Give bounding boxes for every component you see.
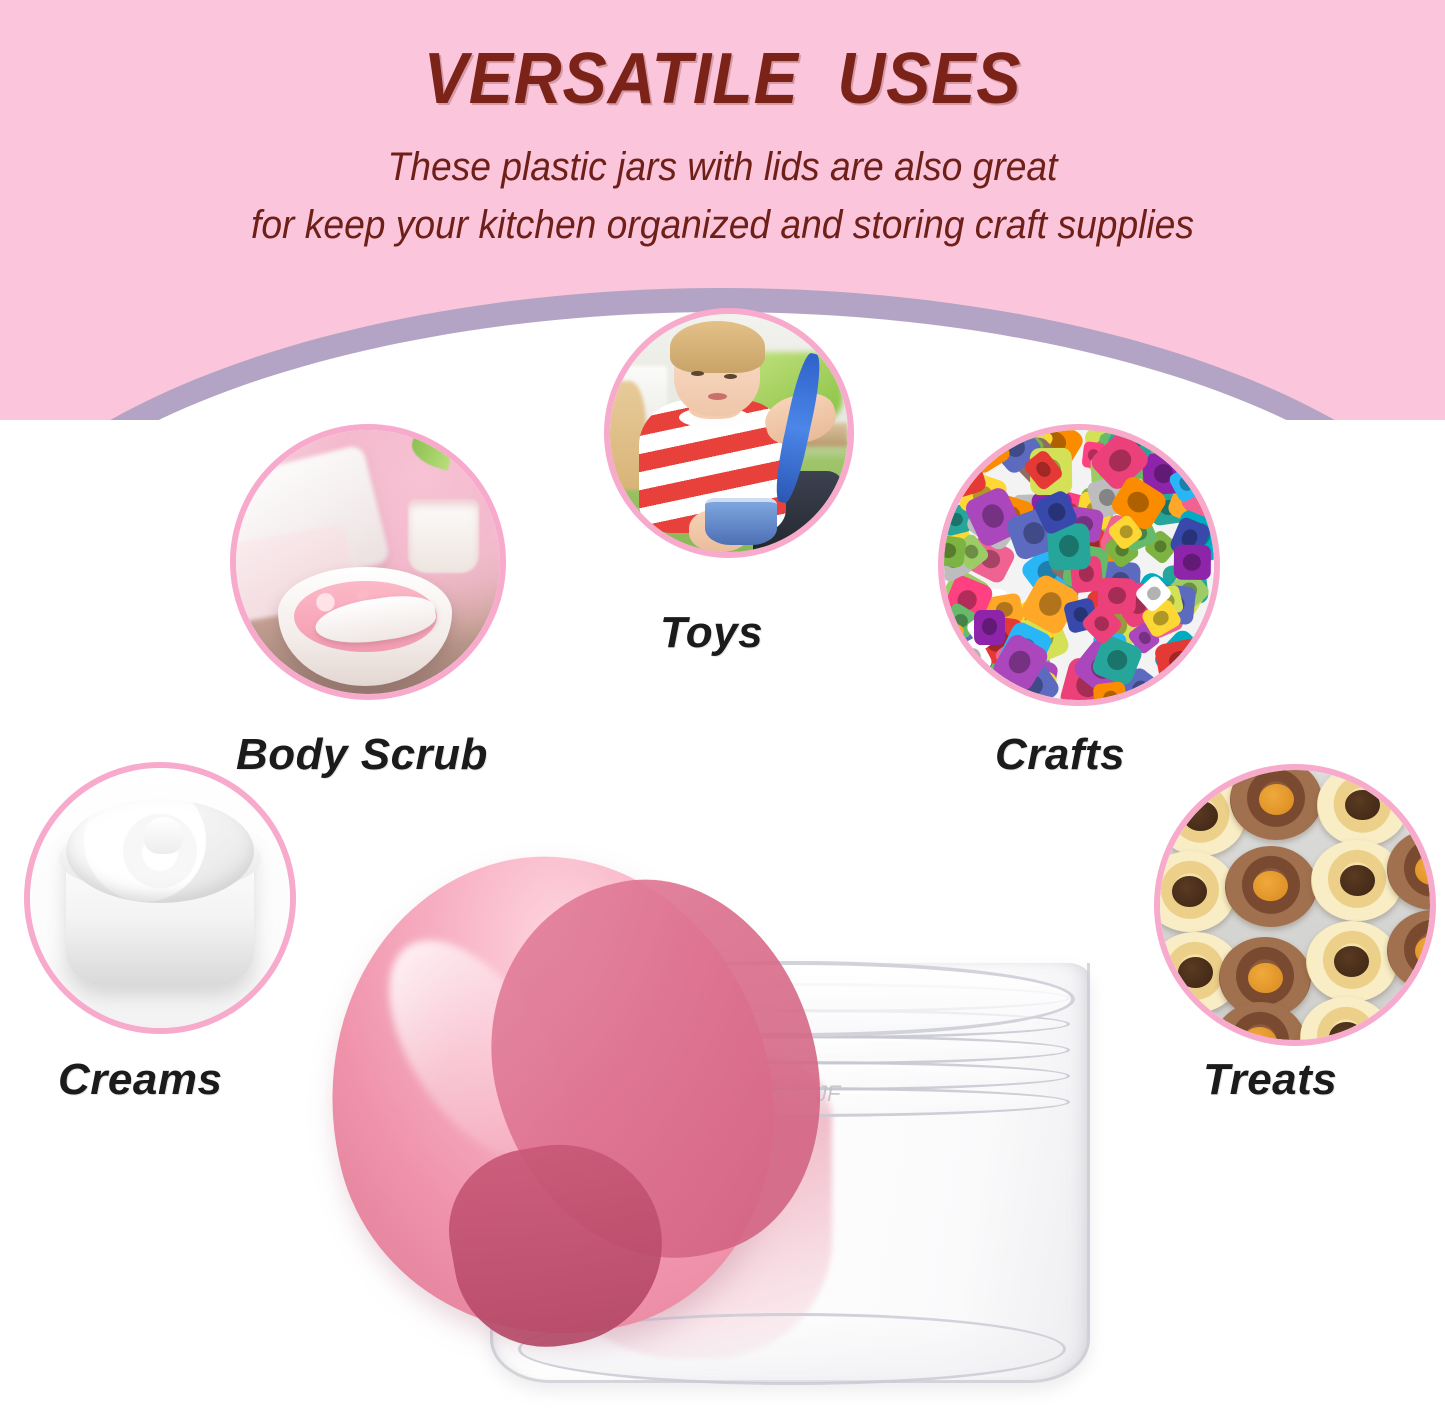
- cookie-center: [1178, 957, 1213, 988]
- chocolate-cookie: [1230, 770, 1322, 840]
- caption-crafts: Crafts: [995, 730, 1125, 780]
- crafts-photo: [944, 430, 1214, 700]
- cookie-center: [1415, 936, 1430, 967]
- cream-peak: [144, 817, 183, 853]
- caption-creams: Creams: [58, 1055, 222, 1105]
- cookie-center: [1248, 963, 1283, 994]
- treats-photo: [1160, 770, 1430, 1040]
- use-case-thumb-creams: [24, 762, 296, 1034]
- product-feature-image: VERSATILE USES These plastic jars with l…: [0, 0, 1445, 1409]
- perler-bead-pile: [944, 430, 1214, 700]
- vanilla-cookie: [1306, 921, 1398, 1002]
- craft-bead: [1195, 658, 1214, 700]
- cookie-center: [1345, 790, 1380, 821]
- caption-toys: Toys: [660, 608, 763, 658]
- cookie-center: [1172, 876, 1207, 907]
- page-subtitle: These plastic jars with lids are also gr…: [51, 138, 1395, 254]
- chocolate-cookie: [1225, 846, 1317, 927]
- page-title: VERSATILE USES: [58, 42, 1387, 118]
- caption-treats: Treats: [1203, 1055, 1337, 1105]
- scrub-cup: [408, 499, 479, 573]
- vanilla-cookie: [1317, 770, 1409, 846]
- body-scrub-photo: [236, 430, 500, 694]
- butter-cookies: [1160, 770, 1430, 1040]
- cookie-center: [1259, 784, 1294, 815]
- use-case-thumb-body-scrub: [230, 424, 506, 700]
- toys-child-hair: [670, 321, 765, 373]
- toys-child-mouth: [708, 393, 727, 400]
- craft-bead: [1173, 545, 1210, 580]
- cookie-center: [1334, 946, 1369, 977]
- use-case-thumb-crafts: [938, 424, 1220, 706]
- craft-bead: [974, 610, 1005, 645]
- cookie-center: [1253, 871, 1288, 902]
- craft-bead: [1092, 681, 1128, 700]
- use-case-thumb-treats: [1154, 764, 1436, 1046]
- creams-photo: [30, 768, 290, 1028]
- toys-slime-container: [705, 498, 776, 545]
- cookie-center: [1415, 855, 1430, 886]
- cookie-center: [1340, 865, 1375, 896]
- cookie-center: [1329, 1022, 1364, 1040]
- cookie-center: [1183, 801, 1218, 832]
- toys-child-eye-right: [724, 374, 737, 379]
- cookie-center: [1242, 1027, 1277, 1040]
- use-case-thumb-toys: [604, 308, 854, 558]
- vanilla-cookie: [1160, 851, 1236, 932]
- product-photo: JF: [300, 845, 1120, 1409]
- subtitle-line-1: These plastic jars with lids are also gr…: [51, 138, 1395, 196]
- subtitle-line-2: for keep your kitchen organized and stor…: [51, 196, 1395, 254]
- vanilla-cookie: [1300, 997, 1392, 1040]
- toys-photo: [610, 314, 848, 552]
